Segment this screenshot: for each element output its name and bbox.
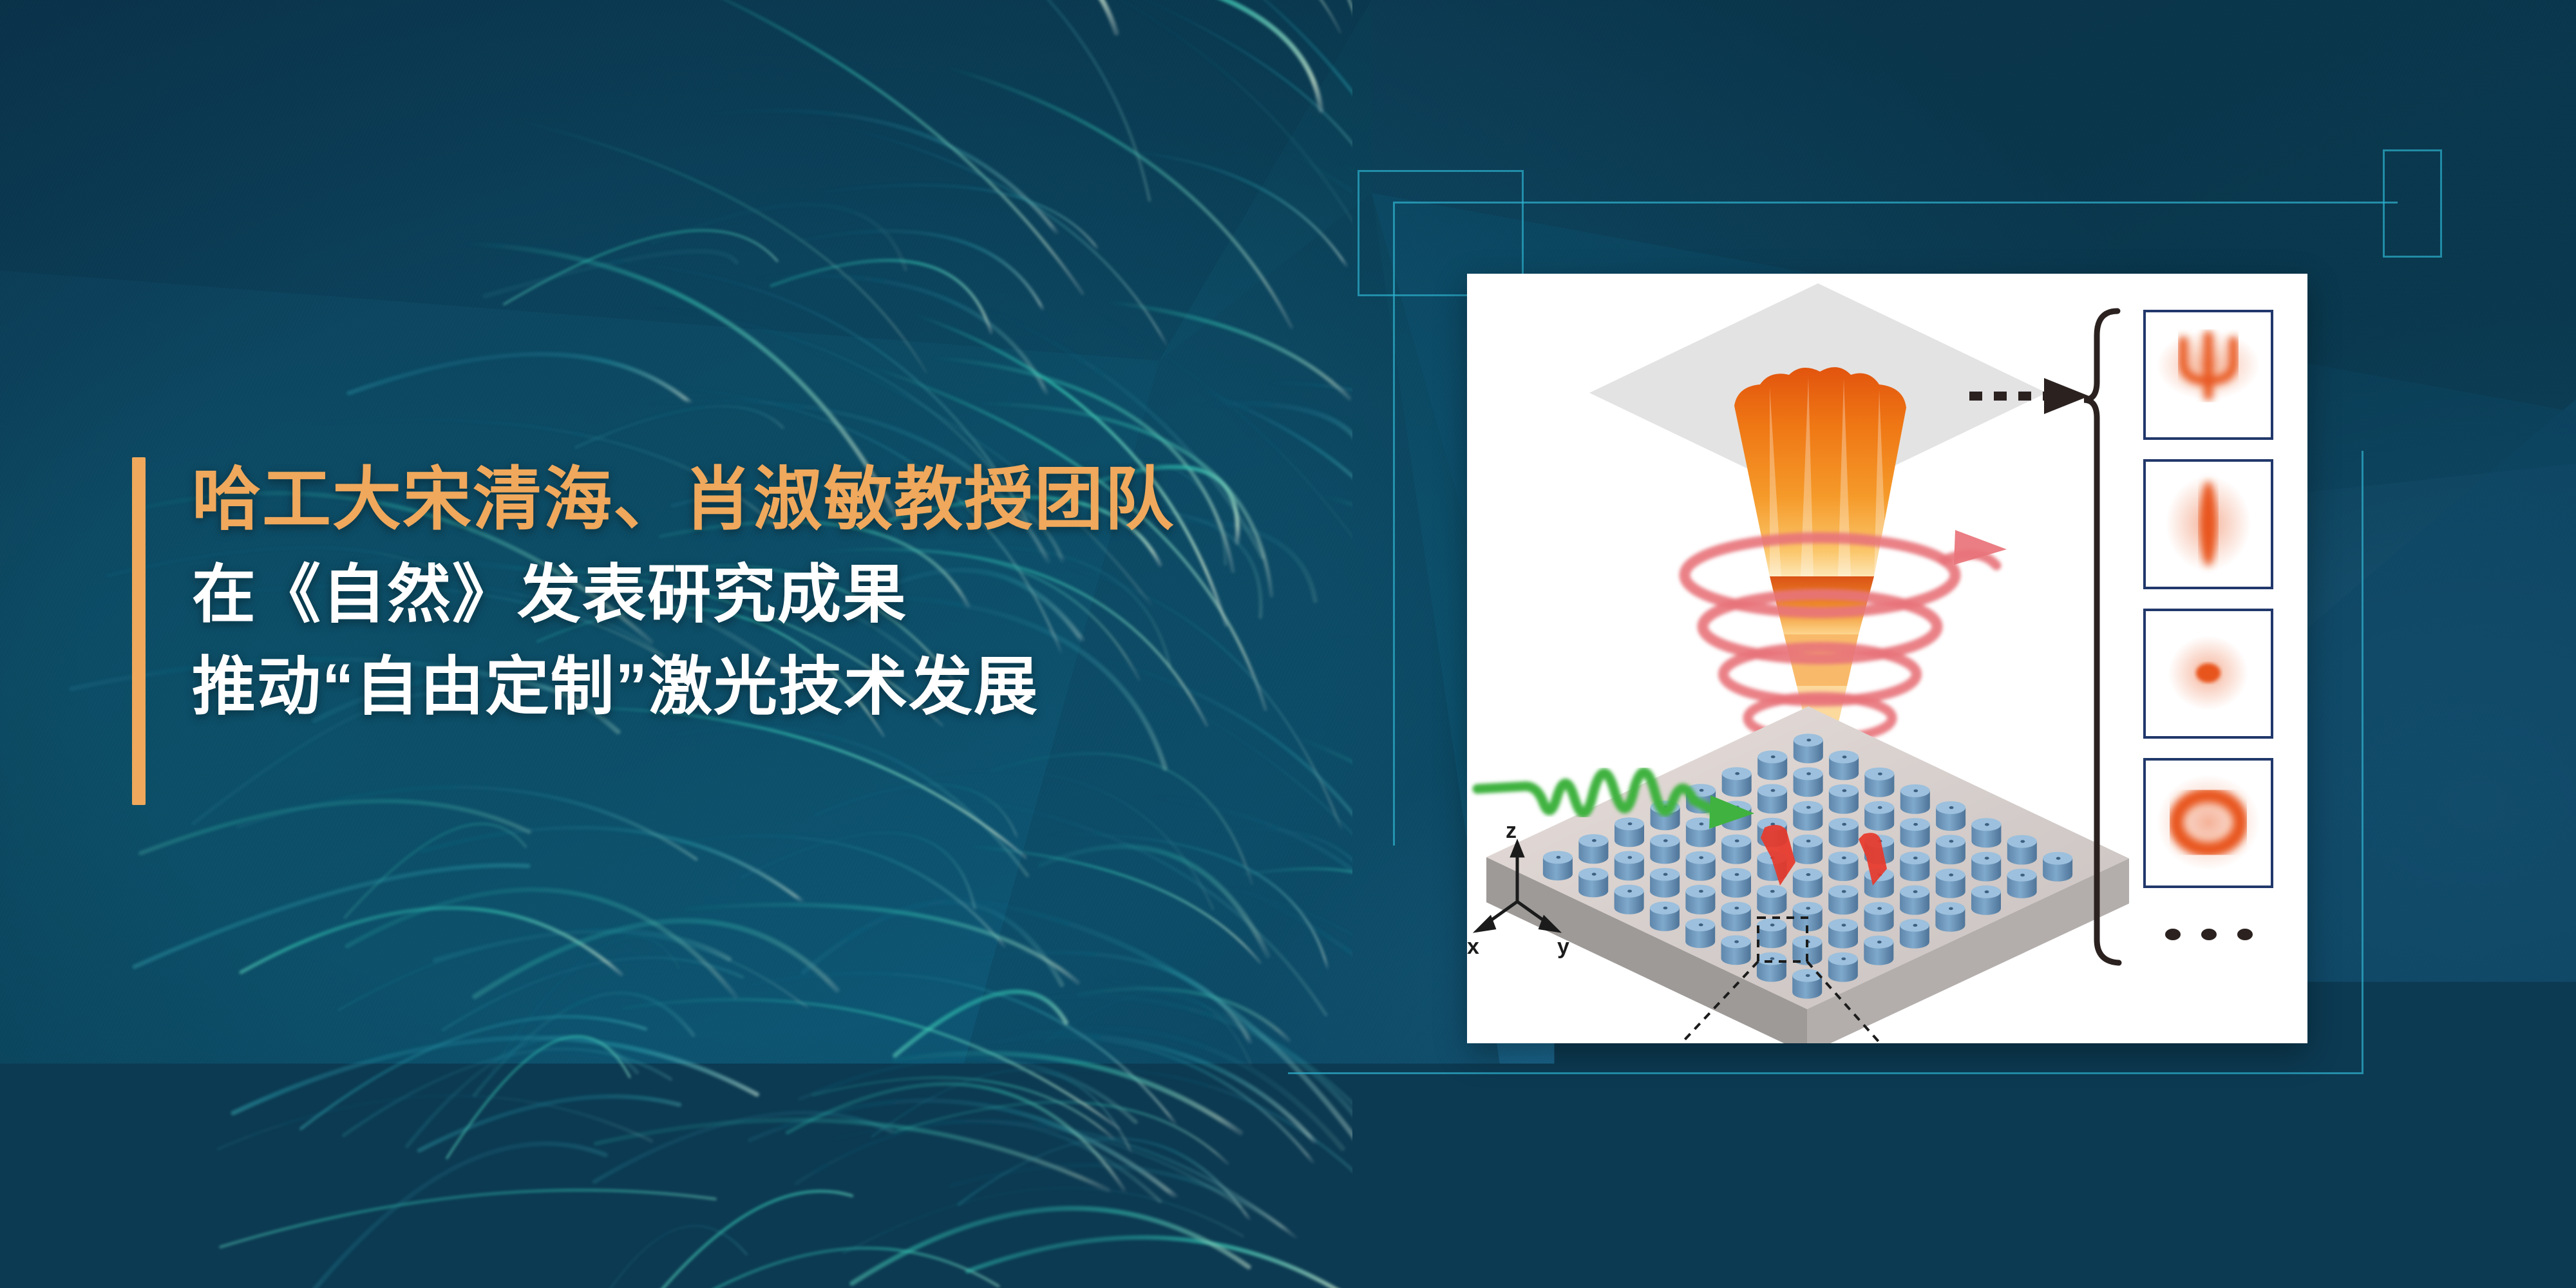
mode-panel-dot (2145, 610, 2272, 737)
nanopillar (1650, 868, 1680, 898)
decor-square-bottom-right (2330, 1077, 2394, 1139)
nanopillar (1971, 852, 2001, 882)
nanopillar (1936, 835, 1965, 864)
nanopillar (1757, 918, 1786, 948)
nanopillar (1650, 834, 1680, 864)
nanopillar (1685, 885, 1715, 914)
nanopillar (1793, 801, 1823, 831)
science-figure-panel: z x y (1467, 274, 2307, 1043)
nanopillar (2007, 869, 2037, 898)
nanopillar (1686, 851, 1716, 881)
nanopillar (1864, 936, 1893, 965)
nanopillar (1757, 885, 1786, 914)
nanopillar (1757, 750, 1787, 780)
nanopillar (1971, 885, 2001, 915)
nanopillar (1578, 834, 1608, 864)
nanopillar (1615, 817, 1644, 847)
output-mode-panels (2145, 311, 2272, 940)
nanopillar (1757, 952, 1786, 982)
nanopillar (1794, 734, 1823, 763)
nanopillar (2043, 852, 2072, 882)
nanopillar (1721, 835, 1751, 864)
nanopillar (1828, 885, 1858, 914)
nanopillar (1615, 885, 1644, 914)
nanopillar (1793, 835, 1823, 864)
nanopillar (1721, 868, 1751, 898)
headline-line-3: 推动“自由定制”激光技术发展 (192, 645, 1388, 728)
nanopillar (1650, 902, 1680, 931)
nanopillar (1864, 801, 1894, 831)
axis-label-y: y (1557, 934, 1569, 959)
nanopillar (1721, 902, 1751, 931)
nanopillar (1828, 851, 1858, 881)
nanopillar (1794, 767, 1823, 797)
nanopillar (1900, 784, 1930, 814)
nanopillar (1543, 851, 1573, 880)
nanopillar (1685, 918, 1715, 948)
headline-line-1: 哈工大宋清海、肖淑敏教授团队 (192, 455, 1388, 544)
nanopillar (1722, 767, 1752, 797)
headline-lines: 哈工大宋清海、肖淑敏教授团队 在《自然》发表研究成果 推动“自由定制”激光技术发… (192, 455, 1388, 728)
nanopillar (1936, 869, 1965, 898)
nanopillar (1864, 902, 1894, 932)
nanopillar (1900, 885, 1929, 915)
mode-panels-ellipsis (2165, 929, 2253, 940)
nanopillar (1936, 801, 1965, 831)
nanopillar (1829, 784, 1859, 814)
nanopillar (1864, 768, 1894, 797)
nanopillar (1828, 952, 1858, 982)
headline-line-2: 在《自然》发表研究成果 (192, 553, 1388, 636)
nanopillar (1615, 851, 1644, 880)
nanopillar (1793, 868, 1823, 898)
nanopillar (1900, 919, 1929, 949)
nanopillar (1757, 784, 1787, 813)
nanopillar (1935, 902, 1965, 932)
mode-panel-line (2145, 460, 2272, 588)
science-figure-svg: z x y (1467, 274, 2307, 1043)
nanopillar (1829, 818, 1859, 848)
accent-bar (132, 457, 146, 805)
mode-panel-ring (2145, 759, 2272, 887)
nanopillar (1578, 867, 1608, 897)
nanopillar (2007, 835, 2037, 865)
nanopillar (1721, 935, 1751, 965)
nanopillar (1829, 750, 1859, 780)
mode-panel-psi (2145, 311, 2272, 439)
headline-block: 哈工大宋清海、肖淑敏教授团队 在《自然》发表研究成果 推动“自由定制”激光技术发… (132, 455, 1388, 728)
axis-label-z: z (1506, 819, 1517, 843)
nanopillar (1971, 818, 2001, 848)
nanopillar (1828, 919, 1858, 949)
axis-label-x: x (1467, 934, 1479, 959)
nanopillar (1900, 818, 1930, 848)
poster-canvas: 哈工大宋清海、肖淑敏教授团队 在《自然》发表研究成果 推动“自由定制”激光技术发… (0, 0, 2576, 1288)
nanopillar (1900, 851, 1929, 881)
